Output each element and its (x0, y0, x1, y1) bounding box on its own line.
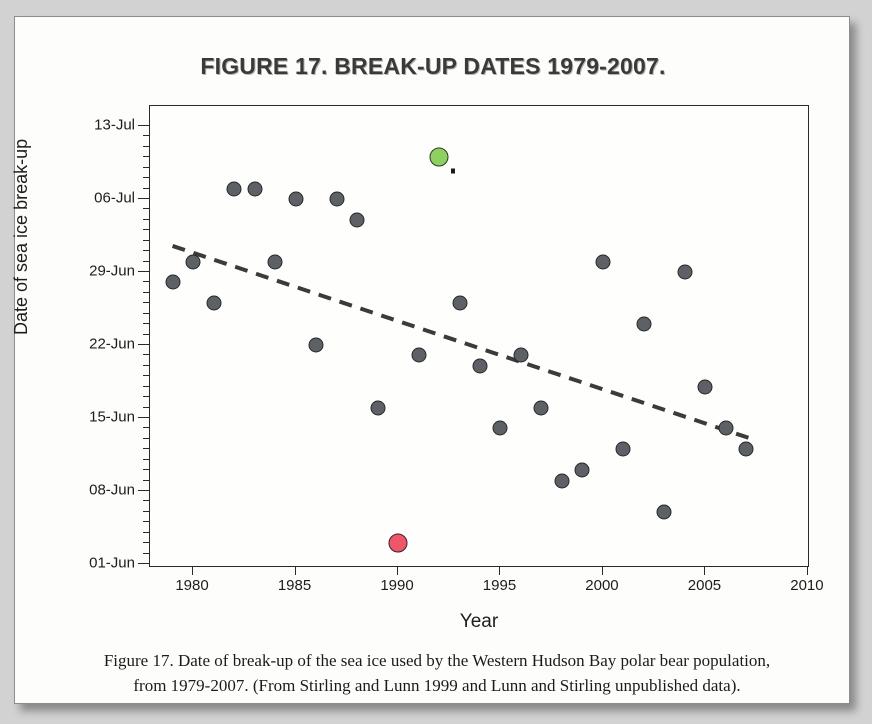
x-tick-mark (192, 567, 193, 575)
x-tick-mark (295, 567, 296, 575)
caption-line-2: from 1979-2007. (From Stirling and Lunn … (37, 674, 837, 699)
scanned-page-background: FIGURE 17. BREAK-UP DATES 1979-2007. Dat… (0, 0, 872, 724)
y-tick-mark (138, 344, 149, 345)
y-tick-label: 22-Jun (89, 336, 135, 353)
y-tick-label: 29-Jun (89, 263, 135, 280)
data-point (616, 442, 631, 457)
data-point (534, 400, 549, 415)
y-tick-mark (138, 563, 149, 564)
data-point (165, 275, 180, 290)
x-tick-mark (397, 567, 398, 575)
data-point (389, 534, 408, 553)
y-tick-label: 06-Jul (94, 190, 135, 207)
data-point (513, 348, 528, 363)
data-point (309, 338, 324, 353)
data-point (206, 296, 221, 311)
data-point (329, 192, 344, 207)
y-axis-label: Date of sea ice break-up (11, 139, 32, 335)
y-tick-mark (138, 198, 149, 199)
x-tick-label: 2010 (790, 577, 823, 594)
figure-caption: Figure 17. Date of break-up of the sea i… (37, 649, 837, 698)
caption-line-1: Figure 17. Date of break-up of the sea i… (104, 651, 770, 670)
data-point (350, 212, 365, 227)
x-tick-mark (807, 567, 808, 575)
data-point (370, 400, 385, 415)
x-axis-label: Year (149, 611, 809, 633)
data-point (739, 442, 754, 457)
data-point (430, 148, 449, 167)
x-tick-label: 1990 (380, 577, 413, 594)
data-point (493, 421, 508, 436)
x-tick-mark (499, 567, 500, 575)
y-tick-label: 01-Jun (89, 555, 135, 572)
data-point (227, 181, 242, 196)
scatter-plot: Date of sea ice break-up 01-Jun08-Jun15-… (15, 17, 851, 705)
scan-speck (451, 168, 455, 173)
y-tick-label: 15-Jun (89, 409, 135, 426)
data-point (698, 379, 713, 394)
trendline (150, 106, 810, 568)
y-tick-mark (138, 417, 149, 418)
y-tick-mark (138, 271, 149, 272)
x-tick-mark (704, 567, 705, 575)
x-tick-mark (602, 567, 603, 575)
x-tick-label: 1995 (483, 577, 516, 594)
data-point (473, 358, 488, 373)
x-tick-label: 1980 (175, 577, 208, 594)
y-tick-mark (138, 125, 149, 126)
y-tick-label: 08-Jun (89, 482, 135, 499)
data-point (452, 296, 467, 311)
data-point (268, 254, 283, 269)
data-point (186, 254, 201, 269)
data-point (677, 265, 692, 280)
data-point (718, 421, 733, 436)
x-tick-label: 1985 (278, 577, 311, 594)
x-tick-label: 2005 (688, 577, 721, 594)
data-point (636, 317, 651, 332)
data-point (554, 473, 569, 488)
x-tick-label: 2000 (585, 577, 618, 594)
data-point (657, 504, 672, 519)
data-point (288, 192, 303, 207)
data-point (595, 254, 610, 269)
data-point (411, 348, 426, 363)
plot-area (149, 105, 809, 567)
y-tick-mark (138, 490, 149, 491)
figure-sheet: FIGURE 17. BREAK-UP DATES 1979-2007. Dat… (14, 16, 850, 704)
data-point (247, 181, 262, 196)
y-tick-label: 13-Jul (94, 117, 135, 134)
data-point (575, 463, 590, 478)
